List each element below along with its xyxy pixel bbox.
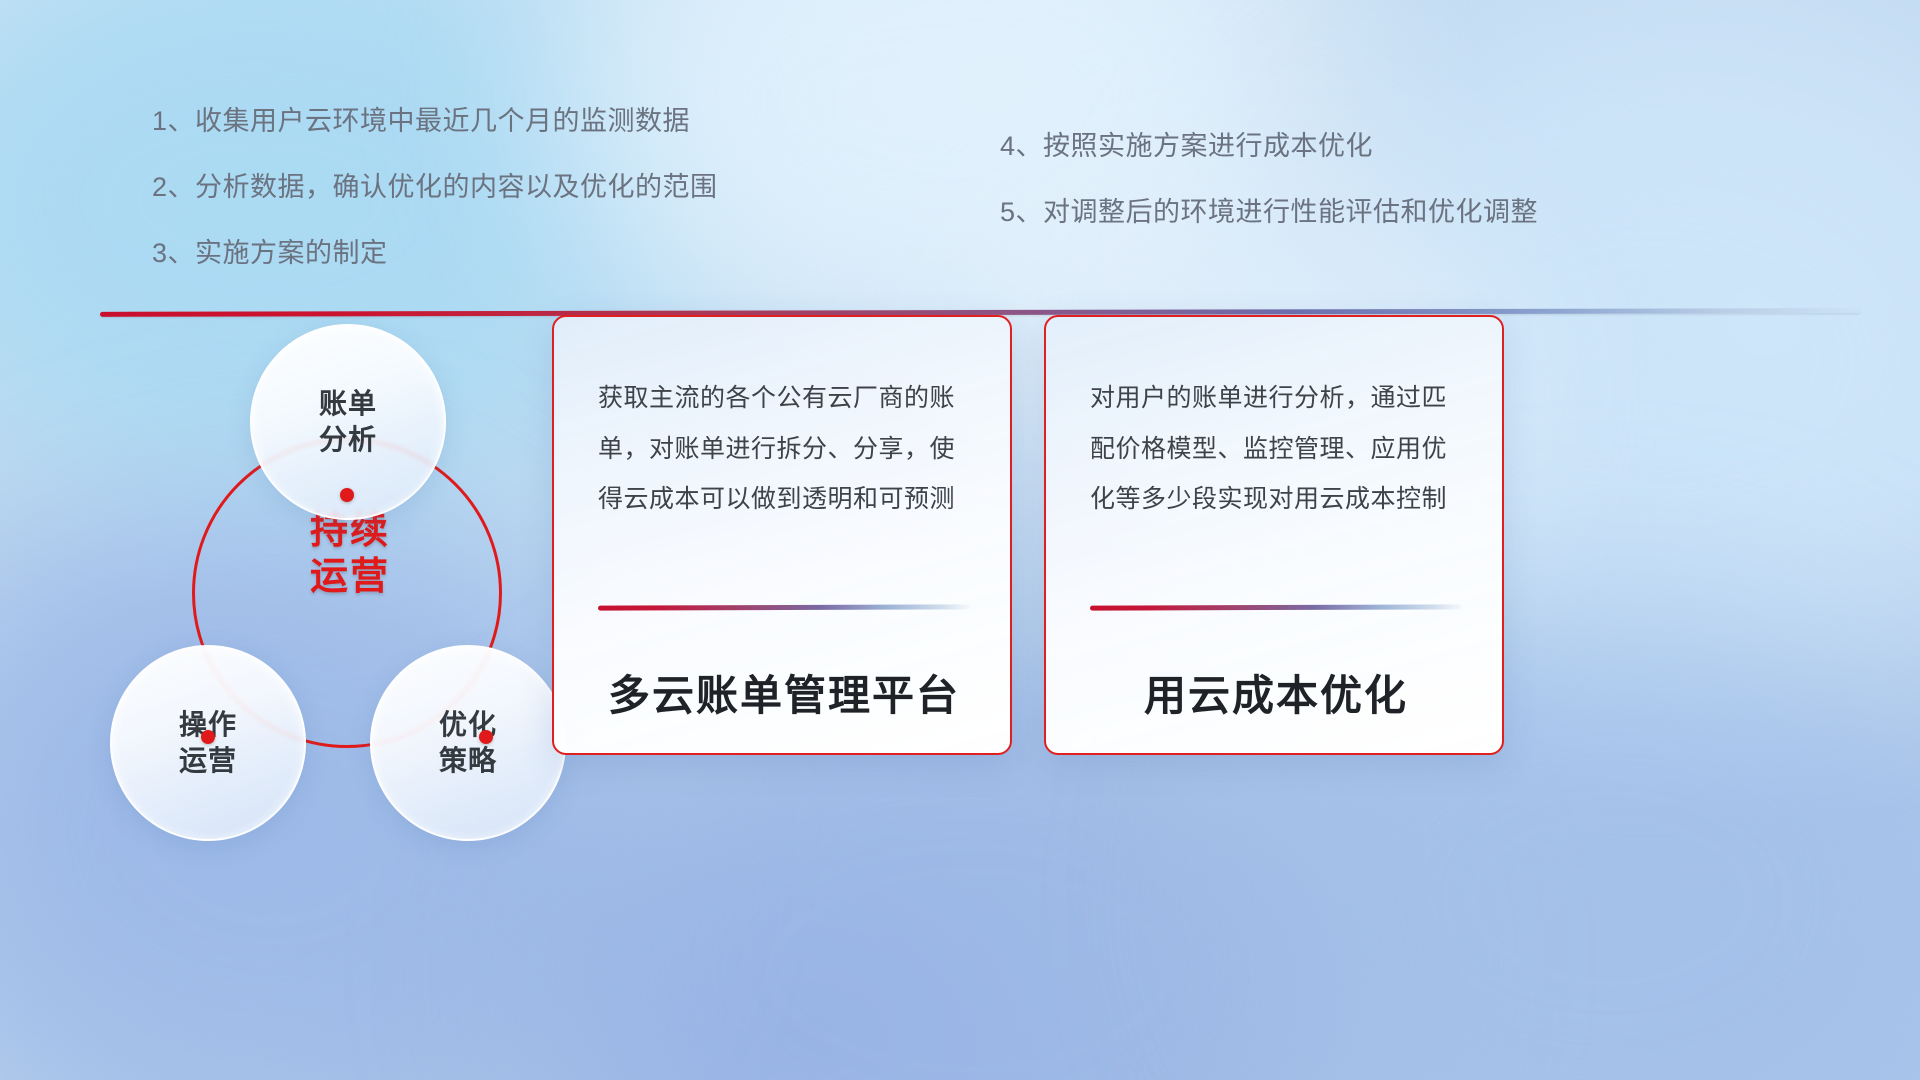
card-description: 对用户的账单进行分析，通过匹配价格模型、监控管理、应用优化等多少段实现对用云成本… [1090, 373, 1458, 525]
node-label-line-2: 分析 [319, 422, 377, 458]
connector-dot-icon [479, 730, 493, 744]
node-label-line-2: 策略 [439, 743, 497, 779]
feature-card-multicloud-billing[interactable]: 获取主流的各个公有云厂商的账单，对账单进行拆分、分享，使得云成本可以做到透明和可… [552, 315, 1012, 755]
bullet-item: 1、收集用户云环境中最近几个月的监测数据 [152, 98, 718, 144]
bullet-item: 4、按照实施方案进行成本优化 [1000, 123, 1538, 169]
bullet-list-right: 4、按照实施方案进行成本优化 5、对调整后的环境进行性能评估和优化调整 [1000, 123, 1538, 255]
diagram-center-label: 持续 运营 [260, 508, 440, 601]
card-divider [598, 604, 970, 610]
node-label-line-1: 账单 [319, 386, 377, 422]
bullet-item: 3、实施方案的制定 [152, 230, 718, 276]
card-description: 获取主流的各个公有云厂商的账单，对账单进行拆分、分享，使得云成本可以做到透明和可… [598, 373, 966, 525]
card-title: 用云成本优化 [1090, 662, 1462, 723]
bullet-item: 5、对调整后的环境进行性能评估和优化调整 [1000, 189, 1538, 235]
connector-dot-icon [201, 730, 215, 744]
node-label-line-2: 运营 [179, 743, 237, 779]
feature-card-cloud-cost-optimization[interactable]: 对用户的账单进行分析，通过匹配价格模型、监控管理、应用优化等多少段实现对用云成本… [1044, 315, 1504, 755]
diagram-node-optimization-strategy[interactable]: 优化 策略 [370, 645, 566, 841]
card-title: 多云账单管理平台 [598, 662, 970, 723]
slide-canvas: 1、收集用户云环境中最近几个月的监测数据 2、分析数据，确认优化的内容以及优化的… [0, 0, 1920, 1080]
bullet-item: 2、分析数据，确认优化的内容以及优化的范围 [152, 164, 718, 210]
connector-dot-icon [340, 488, 354, 502]
card-divider [1090, 604, 1462, 610]
bullet-list-left: 1、收集用户云环境中最近几个月的监测数据 2、分析数据，确认优化的内容以及优化的… [152, 98, 718, 296]
center-label-line-2: 运营 [260, 554, 440, 600]
